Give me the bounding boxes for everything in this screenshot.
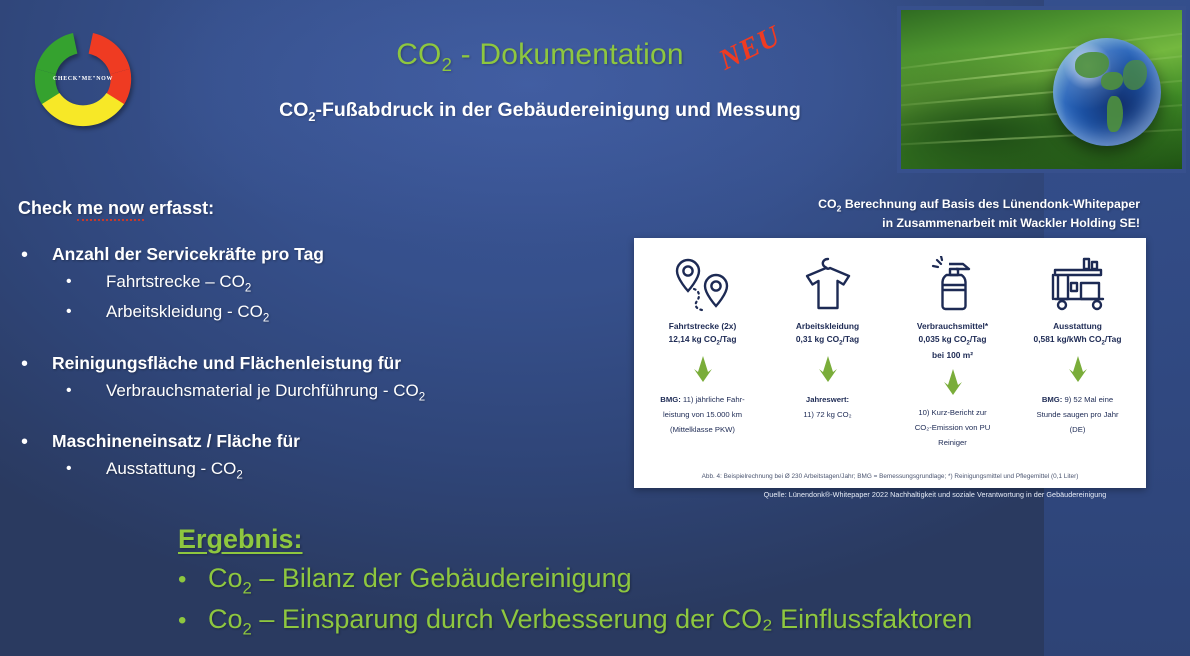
list-item: • Co2 – Bilanz der Gebäudereinigung bbox=[178, 563, 1138, 598]
infographic-column: Ausstattung 0,581 kg/kWh CO2/Tag BMG: 9)… bbox=[1015, 248, 1140, 451]
lead-misspelled: me now bbox=[77, 198, 144, 221]
infographic-card: Fahrtstrecke (2x) 12,14 kg CO2/Tag BMG: … bbox=[634, 238, 1146, 488]
left-lead-text: Check me now erfasst: bbox=[18, 198, 214, 219]
column-value: 12,14 kg CO2/Tag bbox=[643, 333, 762, 349]
note-bold: BMG: bbox=[660, 395, 681, 404]
list-item: • Arbeitskleidung - CO2 bbox=[18, 301, 608, 326]
page-title-sub: 2 bbox=[442, 54, 453, 75]
value-pre: 0,581 kg/kWh CO bbox=[1034, 334, 1102, 344]
column-value: 0,035 kg CO2/Tag bbox=[893, 333, 1012, 349]
waterdrop-globe bbox=[1053, 38, 1161, 146]
result-pre: Co bbox=[208, 604, 243, 634]
result-item-text: Co2 – Bilanz der Gebäudereinigung bbox=[208, 563, 632, 598]
value-post: /Tag bbox=[1105, 334, 1122, 344]
column-value: 0,581 kg/kWh CO2/Tag bbox=[1018, 333, 1137, 349]
sub-item-text: Verbrauchsmaterial je Durchführung - CO bbox=[106, 381, 419, 400]
group-heading: Maschineneinsatz / Fläche für bbox=[52, 431, 300, 453]
group-heading: Anzahl der Servicekräfte pro Tag bbox=[52, 244, 324, 266]
result-list: • Co2 – Bilanz der Gebäudereinigung • Co… bbox=[178, 563, 1138, 644]
note-bold: BMG: bbox=[1042, 395, 1063, 404]
bullet-glyph: • bbox=[178, 609, 208, 633]
column-label: Arbeitskleidung bbox=[768, 320, 887, 333]
list-item: • Maschineneinsatz / Fläche für bbox=[18, 431, 608, 453]
infographic-caption: CO2 Berechnung auf Basis des Lünendonk-W… bbox=[790, 196, 1140, 233]
map-pins-route-icon bbox=[643, 248, 762, 314]
note-line: 11) jährliche Fahr- bbox=[683, 395, 745, 404]
down-arrow-icon bbox=[1069, 356, 1087, 382]
note-line: leistung von 15.000 km bbox=[663, 410, 742, 419]
capabilities-list: • Anzahl der Servicekräfte pro Tag • Fah… bbox=[18, 244, 608, 484]
note-line: Stunde saugen pro Jahr bbox=[1036, 410, 1118, 419]
page-title: CO2 - Dokumentation bbox=[300, 38, 780, 76]
result-title: Ergebnis: bbox=[178, 524, 303, 555]
bullet-glyph: • bbox=[18, 244, 52, 266]
caption-co: CO bbox=[818, 197, 836, 211]
result-post: – Einsparung durch Verbesserung der CO₂ … bbox=[252, 604, 972, 634]
sub-item-text: Ausstattung - CO bbox=[106, 459, 236, 478]
list-item: • Ausstattung - CO2 bbox=[18, 458, 608, 483]
tshirt-hanger-icon bbox=[768, 248, 887, 314]
infographic-column: Fahrtstrecke (2x) 12,14 kg CO2/Tag BMG: … bbox=[640, 248, 765, 451]
note-line: (Mittelklasse PKW) bbox=[670, 425, 735, 434]
value-post: /Tag bbox=[970, 334, 987, 344]
lead-pre: Check bbox=[18, 198, 77, 218]
column-label: Fahrtstrecke (2x) bbox=[643, 320, 762, 333]
column-label: Ausstattung bbox=[1018, 320, 1137, 333]
value-pre: 12,14 kg CO bbox=[669, 334, 717, 344]
column-note: Jahreswert: 11) 72 kg CO₂ bbox=[768, 392, 887, 423]
slide-canvas: Check·me·now CO2 - Dokumentation CO2-Fuß… bbox=[0, 0, 1190, 656]
spray-bottle-icon bbox=[893, 248, 1012, 314]
down-arrow-icon bbox=[694, 356, 712, 382]
column-extra: bei 100 m² bbox=[893, 349, 1012, 362]
caption-line1: Berechnung auf Basis des Lünendonk-White… bbox=[841, 197, 1140, 211]
bullet-glyph: • bbox=[66, 271, 106, 296]
infographic-column: Verbrauchsmittel* 0,035 kg CO2/Tag bei 1… bbox=[890, 248, 1015, 451]
result-post: – Bilanz der Gebäudereinigung bbox=[252, 563, 632, 593]
sub-item: Verbrauchsmaterial je Durchführung - CO2 bbox=[106, 380, 425, 405]
sub-item-subscript: 2 bbox=[236, 470, 242, 482]
subtitle-co: CO bbox=[279, 99, 308, 121]
result-sub: 2 bbox=[243, 578, 252, 597]
down-arrow-icon bbox=[819, 356, 837, 382]
sub-item-subscript: 2 bbox=[245, 282, 251, 294]
lead-post: erfasst: bbox=[144, 198, 214, 218]
bullet-glyph: • bbox=[18, 353, 52, 375]
sub-item: Arbeitskleidung - CO2 bbox=[106, 301, 269, 326]
bullet-glyph: • bbox=[66, 301, 106, 326]
source-line: Quelle: Lünendonk®-Whitepaper 2022 Nachh… bbox=[700, 490, 1170, 499]
list-item: • Co2 – Einsparung durch Verbesserung de… bbox=[178, 604, 1138, 639]
note-line: CO₂-Emission von PU bbox=[915, 423, 991, 432]
list-item: • Anzahl der Servicekräfte pro Tag bbox=[18, 244, 608, 266]
bullet-glyph: • bbox=[18, 431, 52, 453]
earth-in-waterdrop-photo bbox=[901, 10, 1182, 169]
result-pre: Co bbox=[208, 563, 243, 593]
subtitle-rest: -Fußabdruck in der Gebäudereinigung und … bbox=[315, 99, 800, 121]
value-pre: 0,035 kg CO bbox=[919, 334, 967, 344]
check-me-now-logo: Check·me·now bbox=[22, 20, 144, 140]
note-line: (DE) bbox=[1070, 425, 1086, 434]
note-line: Reiniger bbox=[938, 438, 967, 447]
column-value: 0,31 kg CO2/Tag bbox=[768, 333, 887, 349]
bullet-glyph: • bbox=[66, 380, 106, 405]
page-title-rest: - Dokumentation bbox=[452, 38, 684, 71]
result-sub: 2 bbox=[243, 619, 252, 638]
note-bold: Jahreswert: bbox=[806, 395, 849, 404]
infographic-columns: Fahrtstrecke (2x) 12,14 kg CO2/Tag BMG: … bbox=[634, 238, 1146, 451]
earth-photo-frame bbox=[897, 6, 1186, 173]
page-subtitle: CO2-Fußabdruck in der Gebäudereinigung u… bbox=[210, 99, 870, 124]
sub-item-text: Fahrtstrecke – CO bbox=[106, 272, 245, 291]
list-item: • Verbrauchsmaterial je Durchführung - C… bbox=[18, 380, 608, 405]
result-item-text: Co2 – Einsparung durch Verbesserung der … bbox=[208, 604, 972, 639]
note-line: 11) 72 kg CO₂ bbox=[803, 410, 851, 419]
value-post: /Tag bbox=[720, 334, 737, 344]
sub-item-text: Arbeitskleidung - CO bbox=[106, 302, 263, 321]
note-line: 9) 52 Mal eine bbox=[1064, 395, 1113, 404]
column-note: BMG: 9) 52 Mal eine Stunde saugen pro Ja… bbox=[1018, 392, 1137, 438]
sub-item: Fahrtstrecke – CO2 bbox=[106, 271, 251, 296]
column-note: BMG: 11) jährliche Fahr- leistung von 15… bbox=[643, 392, 762, 438]
list-item: • Fahrtstrecke – CO2 bbox=[18, 271, 608, 296]
page-title-co: CO bbox=[396, 38, 441, 71]
sub-item: Ausstattung - CO2 bbox=[106, 458, 243, 483]
infographic-column: Arbeitskleidung 0,31 kg CO2/Tag Jahreswe… bbox=[765, 248, 890, 451]
value-post: /Tag bbox=[843, 334, 860, 344]
logo-wordmark: Check·me·now bbox=[22, 72, 144, 82]
group-heading: Reinigungsfläche und Flächenleistung für bbox=[52, 353, 401, 375]
bullet-glyph: • bbox=[66, 458, 106, 483]
column-label: Verbrauchsmittel* bbox=[893, 320, 1012, 333]
sub-item-subscript: 2 bbox=[263, 313, 269, 325]
value-pre: 0,31 kg CO bbox=[796, 334, 839, 344]
caption-line2: in Zusammenarbeit mit Wackler Holding SE… bbox=[882, 216, 1140, 230]
infographic-footnote: Abb. 4: Beispielrechnung bei Ø 230 Arbei… bbox=[634, 473, 1146, 482]
bullet-glyph: • bbox=[178, 568, 208, 592]
column-note: 10) Kurz-Bericht zur CO₂-Emission von PU… bbox=[893, 405, 1012, 451]
cleaning-cart-icon bbox=[1018, 248, 1137, 314]
list-item: • Reinigungsfläche und Flächenleistung f… bbox=[18, 353, 608, 375]
down-arrow-icon bbox=[944, 369, 962, 395]
note-line: 10) Kurz-Bericht zur bbox=[918, 408, 986, 417]
sub-item-subscript: 2 bbox=[419, 391, 425, 403]
